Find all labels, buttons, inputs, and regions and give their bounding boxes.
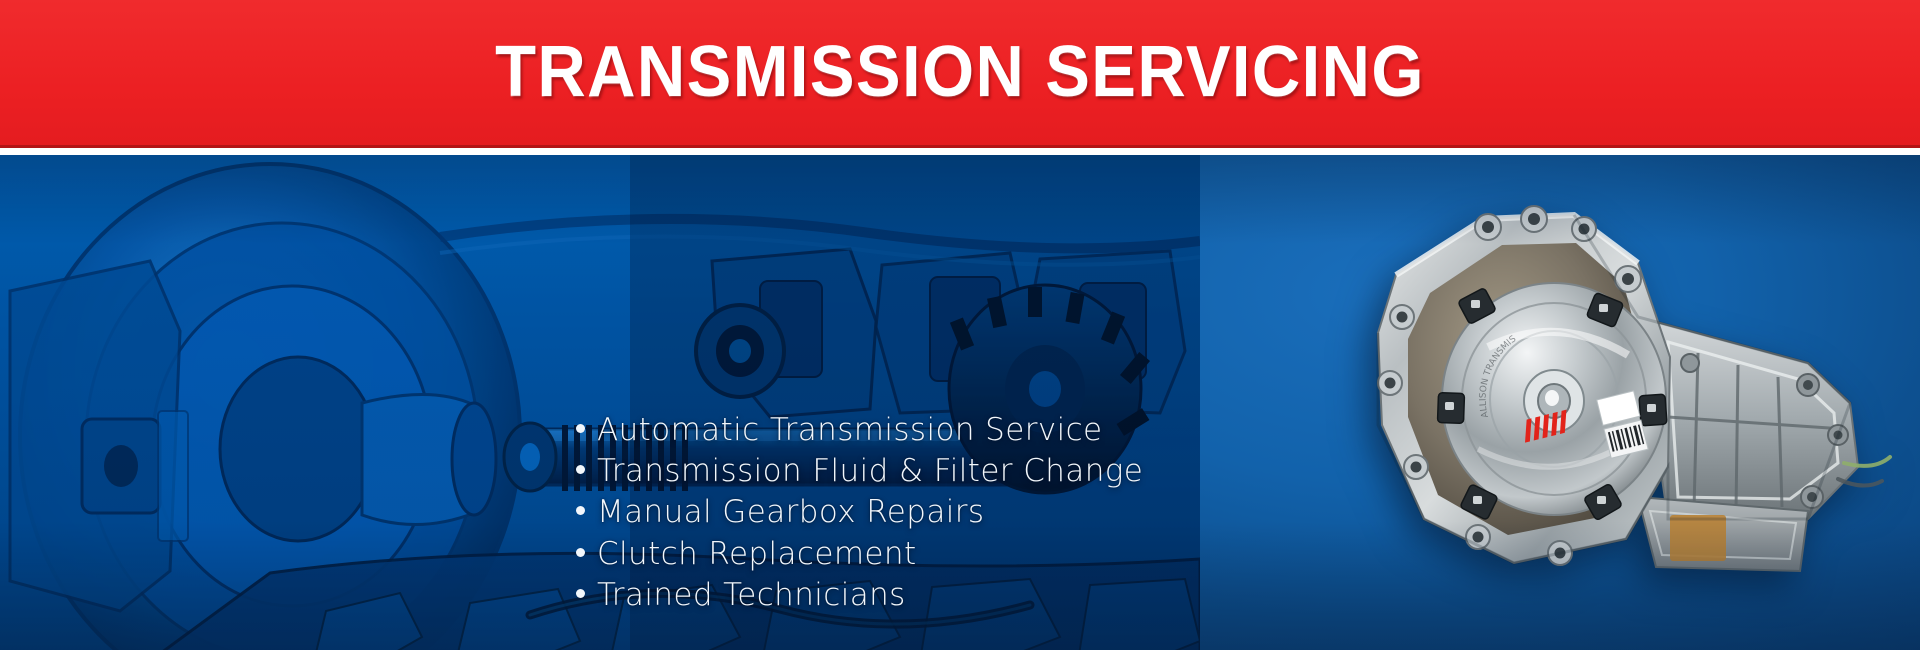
- page-title: TRANSMISSION SERVICING: [67, 0, 1853, 148]
- bullet-dot-icon: [576, 506, 585, 515]
- automatic-transmission-unit-photo: ALLISON TRANSMISSION: [1338, 167, 1898, 617]
- list-item: Trained Technicians: [576, 575, 1143, 616]
- bullet-dot-icon: [576, 589, 585, 598]
- feature-label: Clutch Replacement: [597, 534, 917, 575]
- transmission-servicing-banner: TRANSMISSION SERVICING: [0, 0, 1920, 650]
- bullet-dot-icon: [576, 548, 585, 557]
- feature-list: Automatic Transmission Service Transmiss…: [576, 410, 1143, 616]
- header-separator: [0, 148, 1920, 155]
- feature-label: Automatic Transmission Service: [597, 410, 1103, 451]
- banner-body: ALLISON TRANSMISSION Automatic Transmiss…: [0, 155, 1920, 650]
- list-item: Manual Gearbox Repairs: [576, 492, 1143, 533]
- bullet-dot-icon: [576, 424, 585, 433]
- feature-label: Transmission Fluid & Filter Change: [597, 451, 1143, 492]
- list-item: Transmission Fluid & Filter Change: [576, 451, 1143, 492]
- bullet-dot-icon: [576, 465, 585, 474]
- feature-label: Manual Gearbox Repairs: [597, 492, 984, 533]
- header-red-bar: TRANSMISSION SERVICING: [0, 0, 1920, 148]
- feature-label: Trained Technicians: [597, 575, 906, 616]
- list-item: Clutch Replacement: [576, 534, 1143, 575]
- list-item: Automatic Transmission Service: [576, 410, 1143, 451]
